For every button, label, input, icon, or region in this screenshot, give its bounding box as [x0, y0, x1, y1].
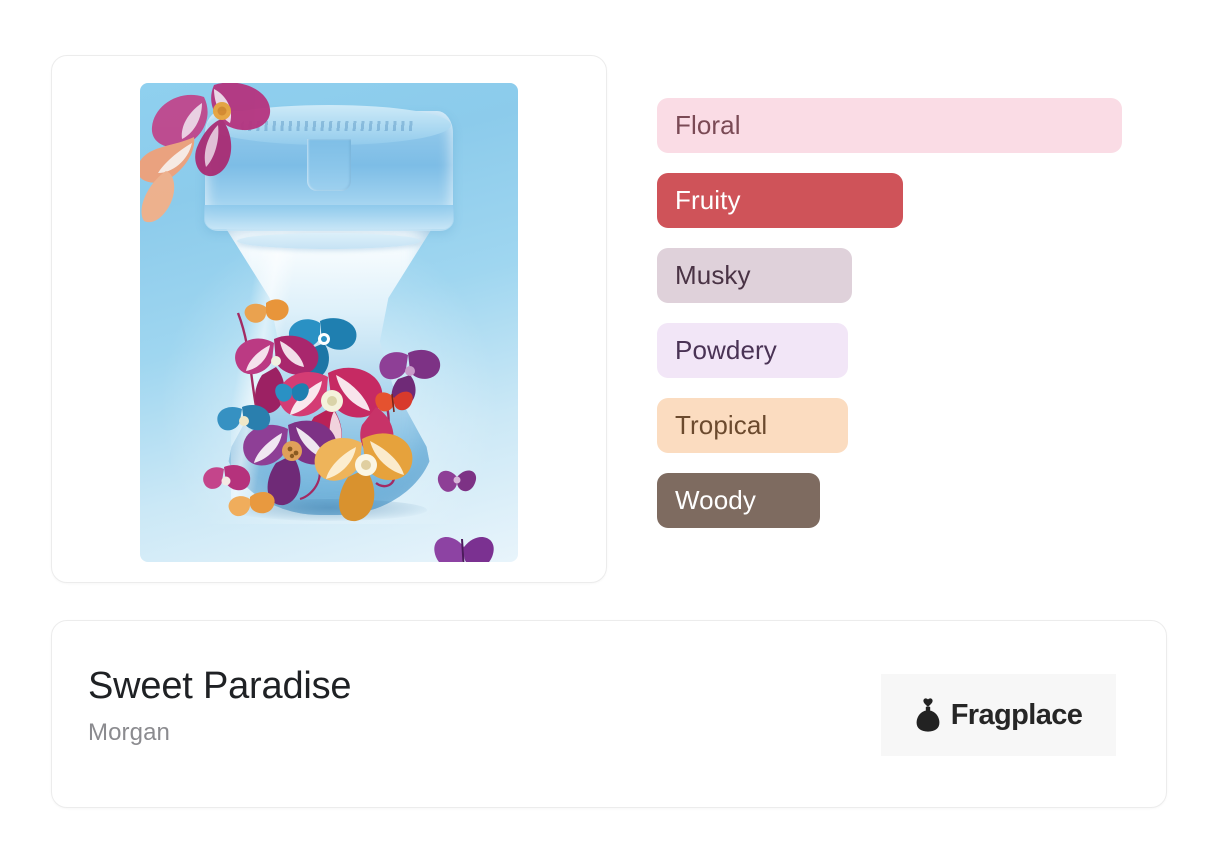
- fragrance-tag-floral[interactable]: Floral: [657, 98, 1122, 153]
- fragrance-note-row: Tropical: [657, 398, 1157, 453]
- brand-logo-text: Fragplace: [951, 699, 1083, 732]
- fragrance-note-row: Powdery: [657, 323, 1157, 378]
- brand-badge[interactable]: Fragplace: [881, 674, 1116, 756]
- butterfly-purple-icon: [434, 463, 480, 499]
- top-section: Floral Fruity Musky Powdery Tropical Woo: [0, 0, 1218, 600]
- fragrance-tag-label: Powdery: [675, 335, 777, 366]
- fragrance-tag-fruity[interactable]: Fruity: [657, 173, 903, 228]
- product-image[interactable]: [140, 83, 518, 562]
- fragrance-note-row: Floral: [657, 98, 1157, 153]
- fragrance-tag-label: Tropical: [675, 410, 767, 441]
- flower-cluster-top-icon: [140, 83, 308, 225]
- fragrance-tag-label: Musky: [675, 260, 751, 291]
- bottle-neck-ring: [237, 233, 421, 249]
- fragrance-tag-tropical[interactable]: Tropical: [657, 398, 848, 453]
- product-info-text: Sweet Paradise Morgan: [88, 667, 351, 747]
- fragrance-note-row: Musky: [657, 248, 1157, 303]
- butterfly-red-icon: [372, 386, 416, 416]
- fragrance-note-row: Fruity: [657, 173, 1157, 228]
- fragrance-tag-label: Fruity: [675, 185, 741, 216]
- product-image-card[interactable]: [51, 55, 607, 583]
- perfume-bottle-heart-icon: [915, 698, 941, 732]
- fragrance-tag-label: Woody: [675, 485, 756, 516]
- fragrance-tag-musky[interactable]: Musky: [657, 248, 852, 303]
- product-info-card: Sweet Paradise Morgan Fragplace: [51, 620, 1167, 808]
- bottle-cap-notch: [307, 139, 351, 191]
- fragrance-tag-woody[interactable]: Woody: [657, 473, 820, 528]
- fragrance-tag-label: Floral: [675, 110, 741, 141]
- product-brand: Morgan: [88, 719, 351, 747]
- butterfly-violet-bottom-icon: [428, 525, 500, 562]
- page-title: Sweet Paradise: [88, 667, 351, 707]
- fragrance-note-row: Woody: [657, 473, 1157, 528]
- butterfly-blue-icon: [272, 377, 312, 407]
- fragrance-note-bar-list: Floral Fruity Musky Powdery Tropical Woo: [657, 98, 1157, 548]
- fragrance-tag-powdery[interactable]: Powdery: [657, 323, 848, 378]
